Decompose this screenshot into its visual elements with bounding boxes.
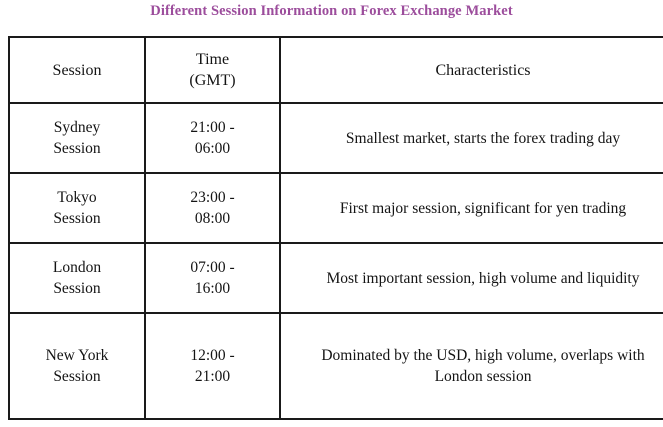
session-characteristics-text: Dominated by the USD, high volume, overl… (285, 345, 663, 387)
header-session-label: Session (14, 60, 140, 81)
page-title: Different Session Information on Forex E… (0, 2, 663, 20)
session-characteristics-text: Most important session, high volume and … (285, 268, 663, 289)
cell-session-newyork: New York Session (9, 313, 145, 419)
session-table-container: Session Time (GMT) Characteristics Sydne… (8, 36, 655, 418)
header-cell-session: Session (9, 37, 145, 103)
header-cell-time: Time (GMT) (145, 37, 280, 103)
cell-characteristics-sydney: Smallest market, starts the forex tradin… (280, 103, 663, 173)
session-time-line1: 07:00 - (150, 257, 275, 278)
table-header-row: Session Time (GMT) Characteristics (9, 37, 663, 103)
session-name-line1: Sydney (14, 117, 140, 138)
cell-session-london: London Session (9, 243, 145, 313)
session-characteristics-text: First major session, significant for yen… (285, 198, 663, 219)
session-time-line2: 16:00 (150, 278, 275, 299)
cell-session-sydney: Sydney Session (9, 103, 145, 173)
cell-time-newyork: 12:00 - 21:00 (145, 313, 280, 419)
table-row: New York Session 12:00 - 21:00 Dominated… (9, 313, 663, 419)
cell-time-sydney: 21:00 - 06:00 (145, 103, 280, 173)
session-time-line2: 08:00 (150, 208, 275, 229)
session-name-line1: London (14, 257, 140, 278)
table-row: Tokyo Session 23:00 - 08:00 First major … (9, 173, 663, 243)
header-time-label-line1: Time (150, 49, 275, 70)
session-time-line2: 21:00 (150, 366, 275, 387)
cell-time-tokyo: 23:00 - 08:00 (145, 173, 280, 243)
header-characteristics-label: Characteristics (285, 60, 663, 81)
session-time-line1: 21:00 - (150, 117, 275, 138)
session-name-line2: Session (14, 208, 140, 229)
cell-session-tokyo: Tokyo Session (9, 173, 145, 243)
cell-characteristics-tokyo: First major session, significant for yen… (280, 173, 663, 243)
table-row: London Session 07:00 - 16:00 Most import… (9, 243, 663, 313)
table-row: Sydney Session 21:00 - 06:00 Smallest ma… (9, 103, 663, 173)
header-time-label-line2: (GMT) (150, 70, 275, 91)
header-cell-characteristics: Characteristics (280, 37, 663, 103)
session-name-line1: New York (14, 345, 140, 366)
session-name-line2: Session (14, 138, 140, 159)
session-name-line1: Tokyo (14, 187, 140, 208)
forex-session-table: Session Time (GMT) Characteristics Sydne… (8, 36, 663, 420)
session-name-line2: Session (14, 278, 140, 299)
session-name-line2: Session (14, 366, 140, 387)
page-root: Different Session Information on Forex E… (0, 0, 663, 427)
cell-time-london: 07:00 - 16:00 (145, 243, 280, 313)
session-time-line1: 23:00 - (150, 187, 275, 208)
session-time-line1: 12:00 - (150, 345, 275, 366)
session-characteristics-text: Smallest market, starts the forex tradin… (285, 128, 663, 149)
session-time-line2: 06:00 (150, 138, 275, 159)
cell-characteristics-newyork: Dominated by the USD, high volume, overl… (280, 313, 663, 419)
cell-characteristics-london: Most important session, high volume and … (280, 243, 663, 313)
